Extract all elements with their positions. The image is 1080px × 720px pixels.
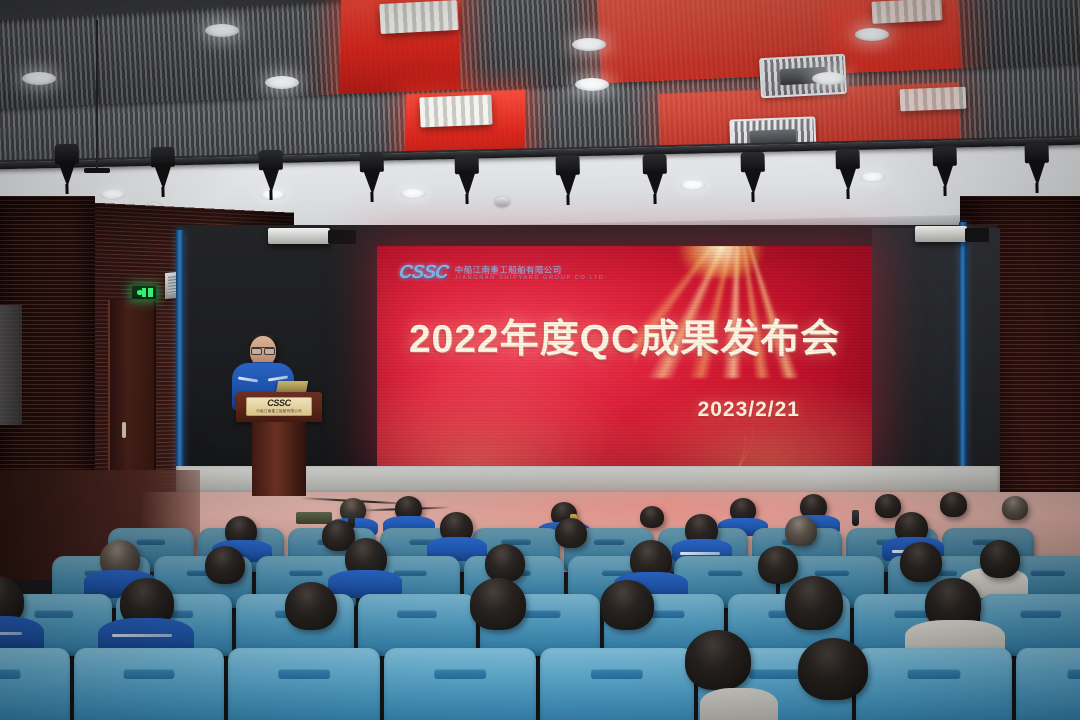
audience-head: [940, 492, 967, 517]
audience-head: [798, 638, 868, 700]
stage-spotlight: [1021, 143, 1052, 190]
podium-nameplate: CSSC 中船江南重工船舶有限公司: [246, 397, 312, 416]
ceiling-downlight: [265, 76, 299, 89]
door-handle[interactable]: [122, 422, 126, 438]
ceiling-sensor: [495, 197, 509, 206]
screen-main-title: 2022年度QC成果发布会: [377, 308, 872, 364]
exit-running-man-icon: [135, 288, 153, 297]
audience-seat[interactable]: [228, 648, 380, 720]
audience-head: [875, 494, 901, 518]
starburst-core-glow: [678, 246, 764, 278]
audience-head: [640, 506, 664, 528]
company-english-name: JIANGNAN SHIPYARD GROUP CO LTD: [455, 275, 605, 281]
ceiling-louvre: [871, 0, 942, 24]
soffit-downlight: [680, 180, 706, 191]
reflective-stripe: [680, 552, 720, 555]
ceiling-downlight: [205, 24, 239, 37]
audience-head: [785, 516, 817, 546]
led-display-screen: CSSC 中船江南重工船舶有限公司 JIANGNAN SHIPYARD GROU…: [377, 246, 872, 466]
audience-seat[interactable]: [358, 594, 476, 656]
podium-logo-mark: CSSC: [267, 399, 290, 408]
audience-seat[interactable]: [540, 648, 694, 720]
audience-head: [205, 546, 245, 584]
ceiling-mounted-projector: [915, 226, 967, 242]
audience-head: [555, 518, 587, 548]
stage-spotlight: [51, 144, 82, 191]
screen-event-date: 2023/2/21: [698, 398, 800, 422]
stage-spotlight: [552, 155, 583, 202]
speaker-podium: CSSC 中船江南重工船舶有限公司: [236, 392, 322, 496]
stage-spotlight: [147, 147, 178, 194]
exit-sign: [131, 285, 157, 300]
stage-spotlight: [929, 146, 960, 193]
audience-head: [600, 580, 654, 630]
wall-flat-panel: [0, 305, 22, 425]
stage-spotlight: [255, 150, 286, 197]
water-bottle: [852, 510, 859, 526]
podium-top: CSSC 中船江南重工船舶有限公司: [236, 392, 322, 422]
audience-head: [1002, 496, 1028, 520]
stage-spotlight: [451, 154, 482, 201]
ceiling-downlight: [812, 72, 846, 85]
reflective-stripe: [112, 634, 172, 637]
stage-spotlight: [832, 149, 863, 196]
audience-head: [785, 576, 843, 630]
soffit-downlight: [100, 189, 126, 200]
stage-spotlight: [639, 154, 670, 201]
ceiling-louvre: [900, 87, 967, 112]
microphone-stand: [96, 20, 98, 170]
ceiling-louvre: [379, 0, 458, 34]
ceiling-louvre: [419, 95, 492, 128]
audience-head: [685, 630, 751, 690]
audience-head: [900, 542, 942, 582]
reflective-stripe: [0, 632, 22, 635]
audience-shoulders: [700, 688, 778, 720]
auditorium-photo: CSSC 中船江南重工船舶有限公司 JIANGNAN SHIPYARD GROU…: [0, 0, 1080, 720]
audience-head: [758, 546, 798, 584]
stage-spotlight: [356, 152, 387, 199]
audience-area: [0, 490, 1080, 720]
audience-seat[interactable]: [856, 648, 1012, 720]
ceiling-downlight: [575, 78, 609, 91]
audience-head: [470, 578, 526, 630]
audience-head: [285, 582, 337, 630]
screen-company-logo: CSSC 中船江南重工船舶有限公司 JIANGNAN SHIPYARD GROU…: [399, 262, 604, 284]
soffit-downlight: [400, 189, 426, 200]
stage-spotlight: [737, 152, 768, 199]
presenter-glasses: [251, 347, 275, 352]
audience-seat[interactable]: [1016, 648, 1080, 720]
audience-head: [485, 544, 525, 582]
audience-head: [980, 540, 1020, 578]
company-chinese-name: 中船江南重工船舶有限公司: [455, 265, 605, 276]
audience-seat[interactable]: [0, 648, 70, 720]
ceiling-downlight: [855, 28, 889, 41]
ceiling-downlight: [572, 38, 606, 51]
ceiling-mounted-projector: [268, 228, 330, 244]
podium-company-name: 中船江南重工船舶有限公司: [256, 410, 302, 414]
stage-backdrop-right: [872, 228, 1000, 478]
ceiling-downlight: [22, 72, 56, 85]
microphone-stand-base: [84, 168, 110, 173]
cssc-logo-mark: CSSC: [397, 262, 449, 284]
soffit-downlight: [860, 172, 886, 183]
audience-seat[interactable]: [384, 648, 536, 720]
audience-seat[interactable]: [74, 648, 224, 720]
podium-column: [252, 422, 306, 496]
